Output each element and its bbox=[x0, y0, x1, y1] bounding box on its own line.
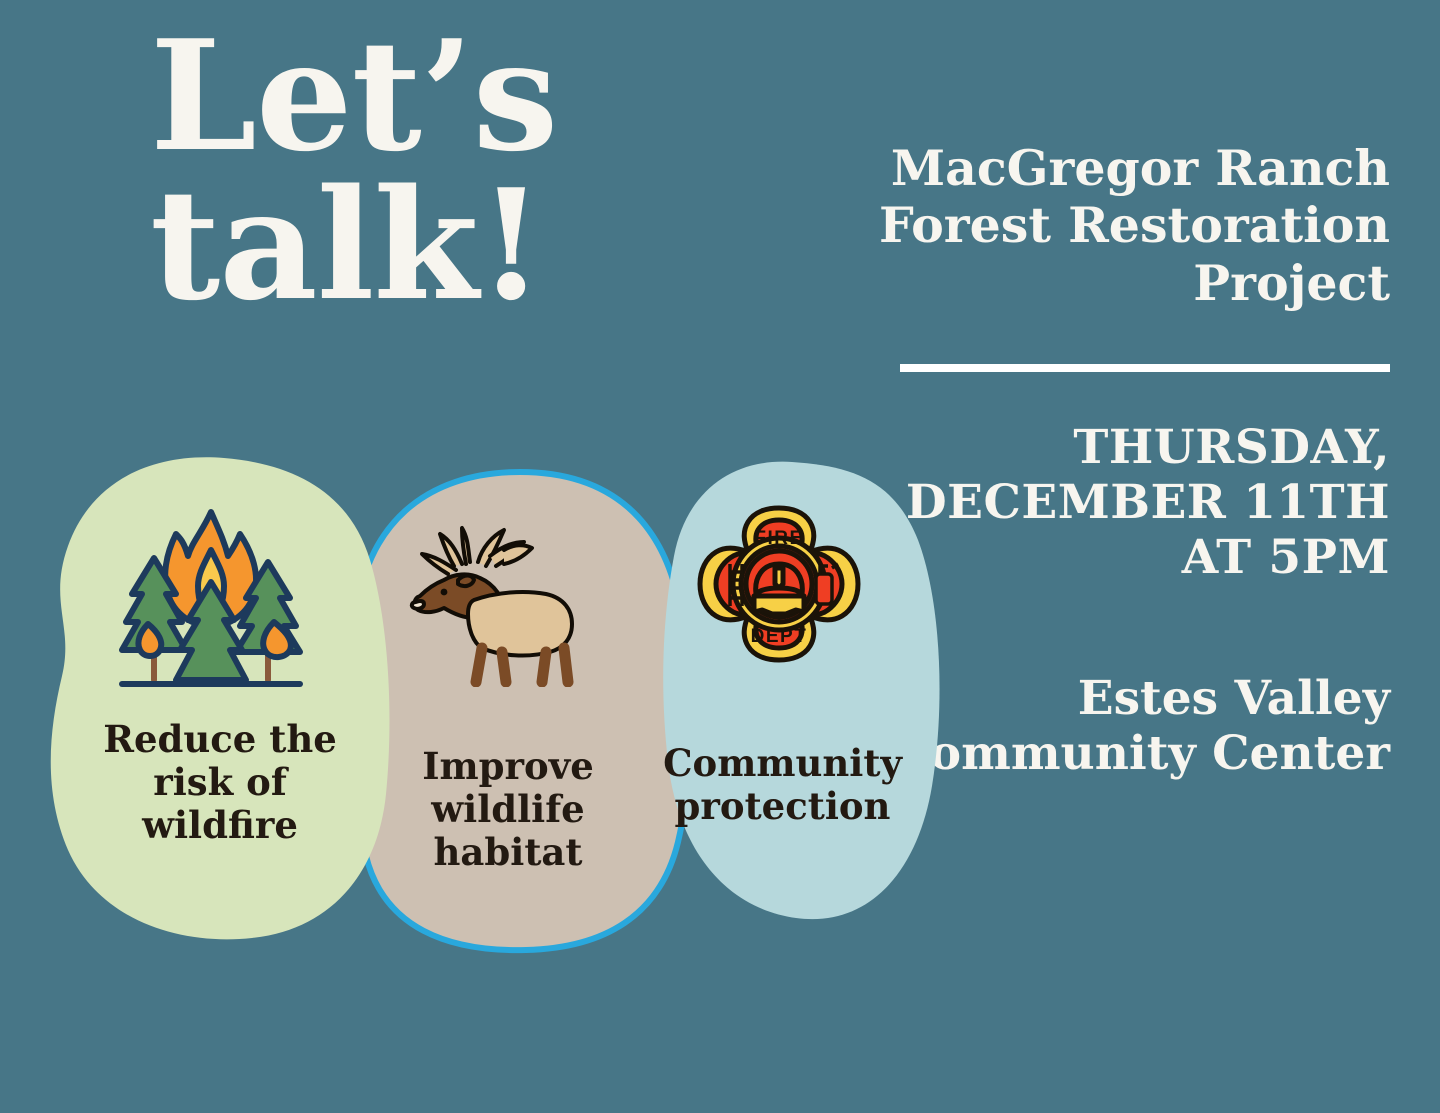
benefit-label-wildlife: Improve wildlife habitat bbox=[398, 745, 618, 874]
project-title-line-1: MacGregor Ranch bbox=[830, 140, 1390, 197]
project-title-line-2: Forest Restoration bbox=[830, 197, 1390, 254]
benefit-label-wildfire: Reduce the risk of wildfire bbox=[95, 718, 345, 847]
badge-bottom-text: DEPT bbox=[751, 626, 808, 647]
fire-department-badge-icon: FIRE DEPT bbox=[686, 502, 872, 688]
wildfire-trees-icon bbox=[118, 498, 304, 698]
benefits-group: FIRE DEPT Reduce the risk of wildfire Im… bbox=[0, 440, 960, 980]
elk-icon bbox=[400, 522, 600, 687]
horizontal-divider bbox=[900, 364, 1390, 372]
poster-canvas: Let’s talk! MacGregor Ranch Forest Resto… bbox=[0, 0, 1440, 1113]
badge-top-text: FIRE bbox=[754, 528, 803, 549]
benefit-label-community: Community protection bbox=[650, 742, 915, 828]
project-title-line-3: Project bbox=[830, 255, 1390, 312]
project-title: MacGregor Ranch Forest Restoration Proje… bbox=[830, 140, 1390, 312]
page-title: Let’s talk! bbox=[150, 22, 770, 320]
